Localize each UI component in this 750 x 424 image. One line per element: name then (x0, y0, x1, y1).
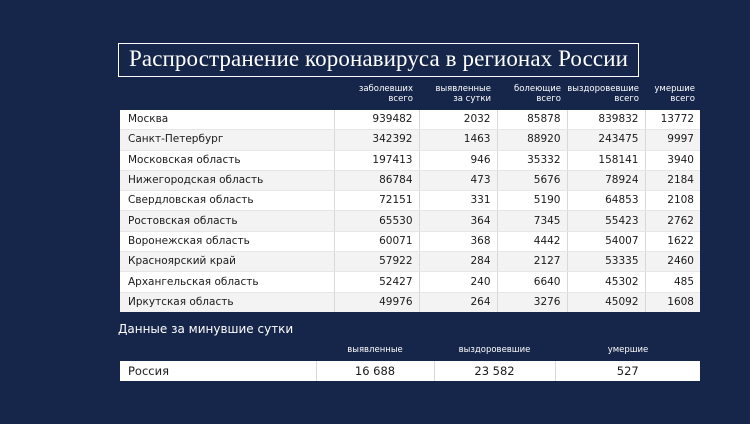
country-summary-header: выявленные выздоровевшие умершие (119, 345, 701, 360)
header-row: выявленные выздоровевшие умершие (119, 345, 701, 360)
cell-active: 88920 (497, 130, 567, 150)
cell-recovered: 53335 (567, 252, 645, 272)
table-row: Санкт-Петербург 342392 1463 88920 243475… (119, 130, 701, 150)
cell-new-daily: 946 (419, 150, 497, 170)
cell-new-daily: 16 688 (316, 360, 434, 382)
cell-recovered: 64853 (567, 191, 645, 211)
cell-new-daily: 473 (419, 170, 497, 190)
cell-active: 5676 (497, 170, 567, 190)
cell-deaths: 527 (555, 360, 701, 382)
column-header-recovered: выздоровевшие (434, 345, 555, 360)
table-row: Россия 16 688 23 582 527 (119, 360, 701, 382)
cell-recovered: 243475 (567, 130, 645, 150)
column-header-deaths: умершие всего (645, 84, 701, 109)
column-header-recovered-line1: выздоровевшие (567, 84, 639, 94)
cell-deaths: 485 (645, 272, 701, 292)
table-row: Нижегородская область 86784 473 5676 789… (119, 170, 701, 190)
cell-deaths: 1608 (645, 292, 701, 313)
table-row: Иркутская область 49976 264 3276 45092 1… (119, 292, 701, 313)
column-header-recovered-line2: всего (567, 94, 639, 104)
cell-recovered: 54007 (567, 231, 645, 251)
cell-sick-total: 57922 (334, 252, 419, 272)
column-header-active-line1: болеющие (497, 84, 561, 94)
column-header-active: болеющие всего (497, 84, 567, 109)
cell-new-daily: 240 (419, 272, 497, 292)
column-header-recovered: выздоровевшие всего (567, 84, 645, 109)
cell-new-daily: 331 (419, 191, 497, 211)
regions-table-header: заболевших всего выявленные за сутки бол… (119, 84, 701, 109)
cell-active: 3276 (497, 292, 567, 313)
cell-recovered: 23 582 (434, 360, 555, 382)
column-header-deaths-line1: умершие (645, 84, 695, 94)
table-row: Красноярский край 57922 284 2127 53335 2… (119, 252, 701, 272)
cell-new-daily: 284 (419, 252, 497, 272)
table-row: Ростовская область 65530 364 7345 55423 … (119, 211, 701, 231)
cell-active: 7345 (497, 211, 567, 231)
cell-sick-total: 72151 (334, 191, 419, 211)
table-row: Архангельская область 52427 240 6640 453… (119, 272, 701, 292)
column-header-new-daily-line2: за сутки (419, 94, 491, 104)
page-title: Распространение коронавируса в регионах … (129, 46, 628, 72)
cell-region: Москва (119, 109, 334, 130)
cell-new-daily: 1463 (419, 130, 497, 150)
column-header-sick-total-line2: всего (334, 94, 413, 104)
cell-new-daily: 364 (419, 211, 497, 231)
country-summary-table: выявленные выздоровевшие умершие Россия … (118, 345, 702, 383)
cell-deaths: 2460 (645, 252, 701, 272)
cell-deaths: 13772 (645, 109, 701, 130)
column-header-deaths: умершие (555, 345, 701, 360)
cell-new-daily: 264 (419, 292, 497, 313)
cell-recovered: 45092 (567, 292, 645, 313)
cell-recovered: 78924 (567, 170, 645, 190)
table-row: Свердловская область 72151 331 5190 6485… (119, 191, 701, 211)
cell-sick-total: 86784 (334, 170, 419, 190)
cell-deaths: 2184 (645, 170, 701, 190)
cell-region: Нижегородская область (119, 170, 334, 190)
column-header-new-daily-line1: выявленные (419, 84, 491, 94)
page-title-box: Распространение коронавируса в регионах … (118, 43, 639, 77)
cell-deaths: 3940 (645, 150, 701, 170)
cell-region: Санкт-Петербург (119, 130, 334, 150)
column-header-new-daily: выявленные (316, 345, 434, 360)
cell-recovered: 55423 (567, 211, 645, 231)
column-header-sick-total: заболевших всего (334, 84, 419, 109)
cell-deaths: 2762 (645, 211, 701, 231)
header-row: заболевших всего выявленные за сутки бол… (119, 84, 701, 109)
cell-new-daily: 368 (419, 231, 497, 251)
cell-country: Россия (119, 360, 316, 382)
cell-region: Ростовская область (119, 211, 334, 231)
cell-region: Воронежская область (119, 231, 334, 251)
cell-active: 2127 (497, 252, 567, 272)
cell-region: Иркутская область (119, 292, 334, 313)
cell-active: 4442 (497, 231, 567, 251)
cell-sick-total: 65530 (334, 211, 419, 231)
cell-active: 85878 (497, 109, 567, 130)
cell-sick-total: 60071 (334, 231, 419, 251)
table-row: Воронежская область 60071 368 4442 54007… (119, 231, 701, 251)
column-header-sick-total-line1: заболевших (334, 84, 413, 94)
cell-recovered: 839832 (567, 109, 645, 130)
cell-active: 5190 (497, 191, 567, 211)
cell-region: Свердловская область (119, 191, 334, 211)
regions-table-body: Москва 939482 2032 85878 839832 13772 Са… (119, 109, 701, 313)
cell-sick-total: 197413 (334, 150, 419, 170)
cell-active: 35332 (497, 150, 567, 170)
cell-region: Московская область (119, 150, 334, 170)
column-header-country (119, 345, 316, 360)
cell-new-daily: 2032 (419, 109, 497, 130)
table-row: Москва 939482 2032 85878 839832 13772 (119, 109, 701, 130)
cell-deaths: 1622 (645, 231, 701, 251)
section-subtitle: Данные за минувшие сутки (118, 322, 293, 337)
cell-region: Архангельская область (119, 272, 334, 292)
regions-table: заболевших всего выявленные за сутки бол… (118, 84, 702, 314)
column-header-deaths-line2: всего (645, 94, 695, 104)
cell-region: Красноярский край (119, 252, 334, 272)
cell-deaths: 9997 (645, 130, 701, 150)
cell-sick-total: 49976 (334, 292, 419, 313)
column-header-region (119, 84, 334, 109)
cell-sick-total: 939482 (334, 109, 419, 130)
page-title-container: Распространение коронавируса в регионах … (118, 43, 639, 77)
column-header-new-daily: выявленные за сутки (419, 84, 497, 109)
column-header-active-line2: всего (497, 94, 561, 104)
cell-deaths: 2108 (645, 191, 701, 211)
cell-recovered: 158141 (567, 150, 645, 170)
cell-sick-total: 52427 (334, 272, 419, 292)
cell-recovered: 45302 (567, 272, 645, 292)
cell-active: 6640 (497, 272, 567, 292)
table-row: Московская область 197413 946 35332 1581… (119, 150, 701, 170)
cell-sick-total: 342392 (334, 130, 419, 150)
country-summary-body: Россия 16 688 23 582 527 (119, 360, 701, 382)
